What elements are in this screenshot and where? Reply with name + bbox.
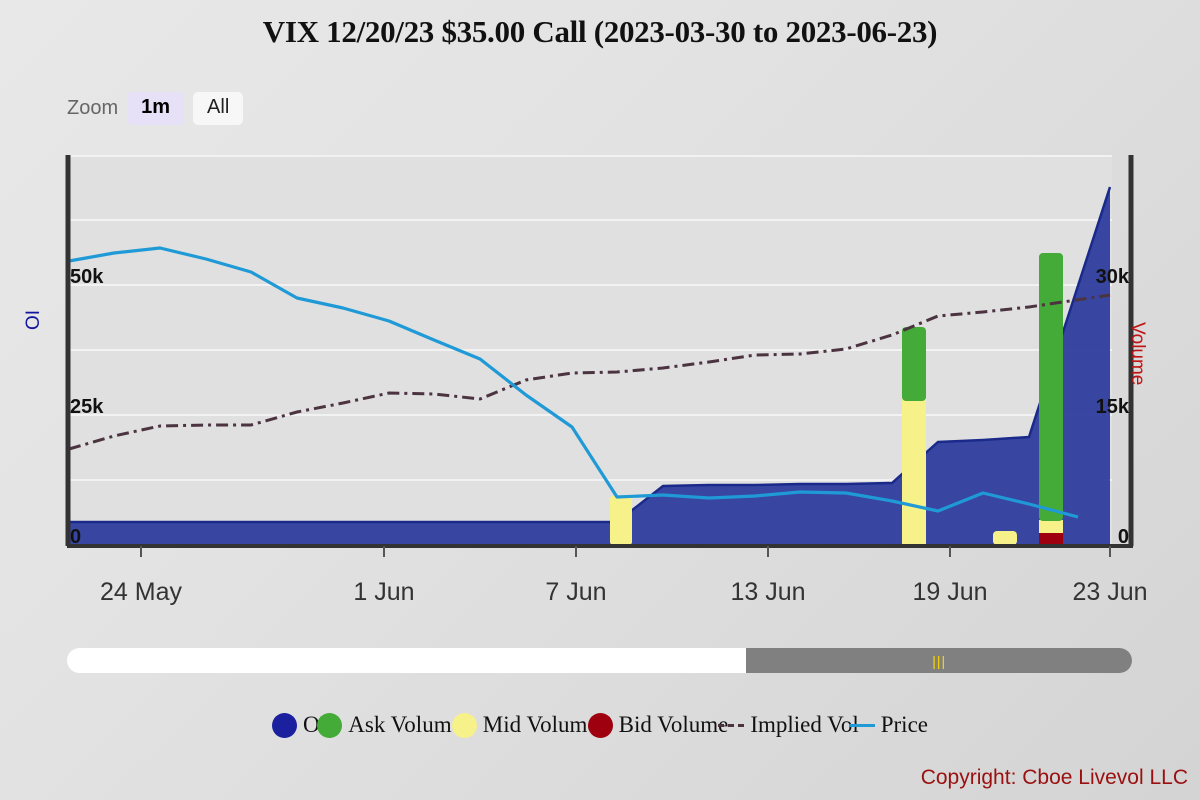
series-price [69,248,1078,517]
series-group [69,187,1110,545]
x-tick-19-jun: 19 Jun [912,578,987,606]
bar-mid-volume [1039,520,1063,533]
ask-volume-marker-icon [317,713,342,738]
x-tick-1-jun: 1 Jun [353,578,414,606]
navigator-scrollbar[interactable]: ||| [67,648,1132,673]
range-selector-label: Zoom [67,97,118,120]
navigator-handle[interactable]: ||| [746,648,1132,673]
y-left-tick-0: 0 [70,526,81,548]
series-oi-line [69,187,1110,522]
x-tick-13-jun: 13 Jun [730,578,805,606]
implied-vol-marker-icon [718,724,744,727]
price-marker-icon [849,724,875,727]
x-axis-ticks: 24 May 1 Jun 7 Jun 13 Jun 19 Jun 23 Jun [100,578,1148,606]
range-button-1m[interactable]: 1m [127,92,184,125]
x-tick-7-jun: 7 Jun [545,578,606,606]
x-tick-24-may: 24 May [100,578,182,606]
legend-item-price[interactable]: Price [849,712,928,738]
legend-label: Mid Volume [483,712,598,738]
legend-label: Implied Vol [750,712,858,738]
page-title: VIX 12/20/23 $35.00 Call (2023-03-30 to … [0,14,1200,50]
x-tick-23-jun: 23 Jun [1072,578,1147,606]
legend-item-implied-vol[interactable]: Implied Vol [718,712,858,738]
chart-page: VIX 12/20/23 $35.00 Call (2023-03-30 to … [0,0,1200,800]
legend-item-bid-volume[interactable]: Bid Volume [588,712,729,738]
y-right-tick-15k: 15k [1096,396,1130,418]
bar-mid-volume [993,531,1017,545]
bar-ask-volume [1039,253,1063,521]
legend-item-mid-volume[interactable]: Mid Volume [452,712,598,738]
series-oi-area [69,187,1110,545]
range-selector: Zoom 1m All [67,92,243,125]
y-axis-left-title: OI [23,310,45,330]
legend-item-ask-volume[interactable]: Ask Volume [317,712,462,738]
copyright-notice: Copyright: Cboe Livevol LLC [921,766,1188,790]
y-right-tick-0: 0 [1118,526,1129,548]
legend-label: Price [881,712,928,738]
bar-mid-volume [610,496,632,545]
y-right-tick-30k: 30k [1096,266,1130,288]
gridlines [67,156,1112,545]
mid-volume-marker-icon [452,713,477,738]
y-axis-right-ticks: 0 15k 30k [1096,266,1130,548]
oi-marker-icon [272,713,297,738]
y-axis-left-ticks: 0 25k 50k [70,266,104,548]
bid-volume-marker-icon [588,713,613,738]
y-axis-right-title: Volume [1126,322,1148,385]
legend-label: Ask Volume [348,712,462,738]
legend-label: Bid Volume [619,712,729,738]
bar-mid-volume [902,399,926,545]
range-button-all[interactable]: All [193,92,243,125]
y-left-tick-50k: 50k [70,266,104,288]
bar-bid-volume [1039,532,1063,545]
x-tick-marks [141,546,1110,557]
legend: OI Ask Volume Mid Volume Bid Volume Impl… [0,712,1200,738]
bar-ask-volume [902,327,926,401]
plot-background [67,155,1112,545]
navigator-grip-icon: ||| [932,653,946,669]
y-left-tick-25k: 25k [70,396,104,418]
series-implied-vol [69,295,1110,449]
